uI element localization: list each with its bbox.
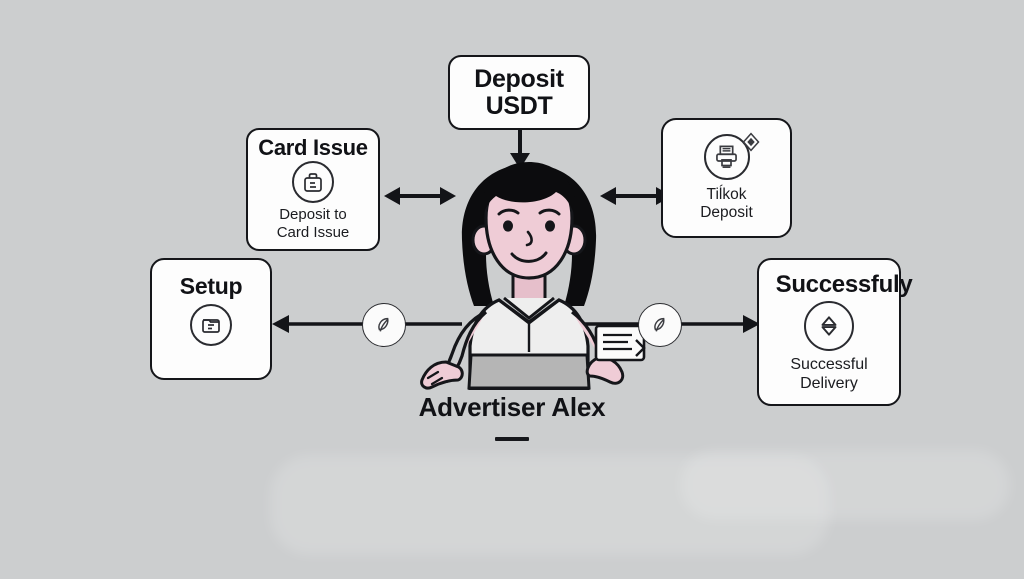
connector-badge-right [638, 303, 682, 347]
center-caption: Advertiser Alex [0, 392, 1024, 441]
node-card-issue[interactable]: Card Issue Deposit to Card Issue [246, 128, 380, 251]
leaf-icon [649, 314, 671, 336]
node-success-subtitle: Successful Delivery [790, 356, 867, 394]
caption-text: Advertiser Alex [0, 392, 1024, 423]
node-setup[interactable]: Setup [150, 258, 272, 380]
folder-icon [190, 304, 232, 346]
diagram-canvas: Deposit USDT Card Issue Deposit to Card … [0, 0, 1024, 579]
node-tiktok[interactable]: Tiĺkok Deposit [661, 118, 792, 238]
diamond-icon [741, 132, 761, 152]
node-deposit-usdt-title: Deposit USDT [474, 66, 564, 119]
node-deposit-usdt[interactable]: Deposit USDT [448, 55, 590, 130]
node-success[interactable]: Successfuly Successful Delivery [757, 258, 901, 406]
id-card [596, 326, 644, 360]
background-artifact [680, 450, 1010, 520]
up-down-triangles-icon [804, 301, 854, 351]
caption-rule [495, 437, 529, 441]
node-tiktok-subtitle: Tiĺkok Deposit [700, 186, 753, 223]
advertiser-alex-illustration [400, 140, 658, 390]
connector-badge-left [362, 303, 406, 347]
node-card-issue-subtitle: Deposit to Card Issue [277, 206, 350, 241]
printer-icon [704, 134, 750, 180]
node-success-title: Successfuly [776, 272, 913, 297]
briefcase-icon [292, 161, 334, 203]
node-setup-title: Setup [180, 274, 242, 298]
leaf-icon [373, 314, 395, 336]
node-card-issue-title: Card Issue [258, 136, 368, 159]
